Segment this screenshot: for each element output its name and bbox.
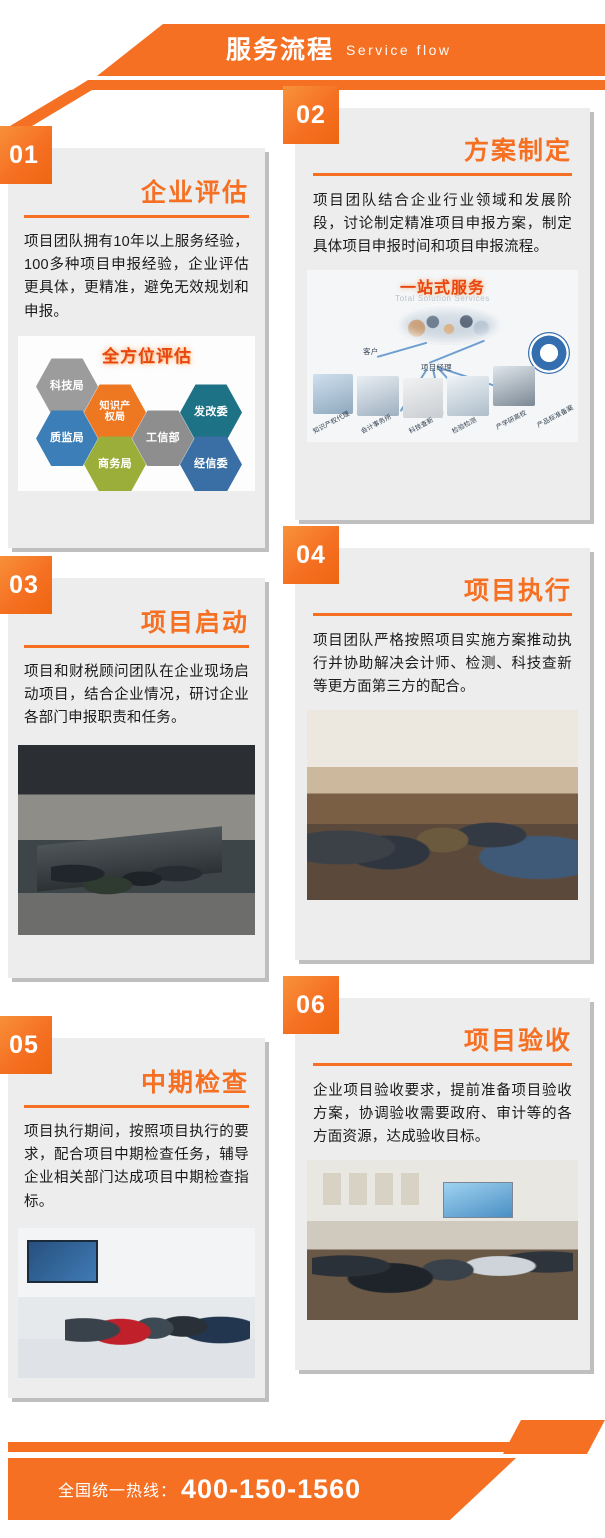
header-title-group: 服务流程 Service flow [226, 28, 451, 72]
step-number-badge: 02 [283, 86, 339, 144]
step-header: 方案制定 [295, 108, 590, 176]
photo-conference-room [18, 745, 255, 935]
page-subtitle: Service flow [346, 43, 451, 57]
step-number-badge: 05 [0, 1016, 52, 1074]
conference-room-image [18, 745, 255, 935]
step-description: 项目团队拥有10年以上服务经验，100多种项目申报经验，企业评估更具体，更精准，… [8, 218, 265, 325]
step-title: 项目启动 [24, 610, 249, 638]
step-card-01: 01 企业评估 项目团队拥有10年以上服务经验，100多种项目申报经验，企业评估… [8, 148, 265, 548]
photo-boardroom-review [307, 1160, 578, 1320]
hotline-label: 全国统一热线： [58, 1477, 177, 1501]
step-header: 项目验收 [295, 998, 590, 1066]
photo-working-meeting [307, 710, 578, 900]
step-number-badge: 04 [283, 526, 339, 584]
hexagon-diagram: 全方位评估 科技局 质监局 知识产权局 商务局 工信部 发改委 经信委 [18, 336, 255, 491]
one-stop-subtitle: Total Solution Services [307, 294, 578, 303]
flow-arrow [377, 342, 428, 358]
step-description: 项目执行期间，按照项目执行的要求，配合项目中期检查任务，辅导企业相关部门达成项目… [8, 1108, 265, 1215]
node-customer: 客户 [363, 346, 378, 357]
page-title: 服务流程 [226, 38, 334, 63]
step-title: 企业评估 [24, 180, 249, 208]
step-title: 方案制定 [313, 138, 572, 166]
step-card-02: 02 方案制定 项目团队结合企业行业领域和发展阶段，讨论制定精准项目申报方案，制… [295, 108, 590, 520]
hex-label: 科技局 [50, 380, 84, 393]
hotline-number[interactable]: 400-150-1560 [181, 1474, 361, 1505]
thumb-inspection [447, 376, 489, 416]
projection-screen [443, 1182, 513, 1217]
one-stop-service-diagram: 一站式服务 Total Solution Services 客户 项目经理 知识… [307, 270, 578, 442]
thumb-tech-search [403, 378, 443, 418]
step-number-badge: 06 [283, 976, 339, 1034]
photo-showroom-visit [18, 1228, 255, 1378]
label-university: 产学研高校 [494, 407, 528, 432]
hex-label: 商务局 [98, 458, 132, 471]
thumb-university [493, 366, 535, 406]
step-number-badge: 03 [0, 556, 52, 614]
hex-label: 知识产权局 [95, 401, 135, 424]
step-description: 项目团队严格按照项目实施方案推动执行并协助解决会计师、检测、科技查新等更方面第三… [295, 616, 590, 700]
thumb-accounting [357, 376, 399, 416]
step-title: 项目执行 [313, 578, 572, 606]
boardroom-review-image [307, 1160, 578, 1320]
page-footer: 全国统一热线： 400-150-1560 [0, 1420, 605, 1538]
hex-label: 质监局 [50, 432, 84, 445]
step-card-04: 04 项目执行 项目团队严格按照项目实施方案推动执行并协助解决会计师、检测、科技… [295, 548, 590, 960]
step-title: 中期检查 [24, 1070, 249, 1098]
step-card-06: 06 项目验收 企业项目验收要求，提前准备项目验收方案，协调验收需要政府、审计等… [295, 998, 590, 1370]
showroom-visit-image [18, 1228, 255, 1378]
step-number-badge: 01 [0, 126, 52, 184]
step-description: 项目团队结合企业行业领域和发展阶段，讨论制定精准项目申报方案，制定具体项目申报时… [295, 176, 590, 260]
hex-label: 工信部 [146, 432, 180, 445]
step-header: 项目执行 [295, 548, 590, 616]
working-meeting-image [307, 710, 578, 900]
node-project-manager: 项目经理 [421, 362, 452, 373]
hexagon-diagram-title: 全方位评估 [102, 342, 192, 367]
thumb-ip-agency [313, 374, 353, 414]
hotline-group: 全国统一热线： 400-150-1560 [58, 1458, 361, 1520]
label-inspection: 检验检测 [450, 414, 478, 435]
footer-accent-stripe [8, 1442, 605, 1452]
step-title: 项目验收 [313, 1028, 572, 1056]
step-description: 项目和财税顾问团队在企业现场启动项目，结合企业情况，研讨企业各部门申报职责和任务… [8, 648, 265, 731]
step-description: 企业项目验收要求，提前准备项目验收方案，协调验收需要政府、审计等的各方面资源，达… [295, 1066, 590, 1150]
one-stop-center-photo [395, 303, 503, 345]
step-card-03: 03 项目启动 项目和财税顾问团队在企业现场启动项目，结合企业情况，研讨企业各部… [8, 578, 265, 978]
label-product-standard: 产品标准备案 [535, 402, 575, 430]
step-card-05: 05 中期检查 项目执行期间，按照项目执行的要求，配合项目中期检查任务，辅导企业… [8, 1038, 265, 1398]
hex-label: 发改委 [194, 406, 228, 419]
hex-label: 经信委 [194, 458, 228, 471]
